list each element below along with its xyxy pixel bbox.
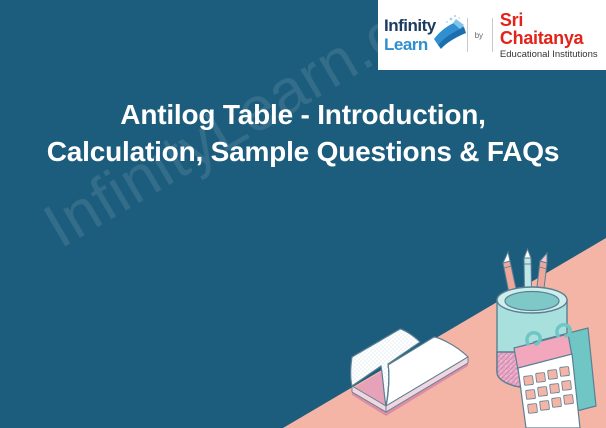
infinity-swoosh-icon (430, 13, 470, 53)
infinity-learn-word-infinity: Infinity (384, 17, 436, 34)
sri-chaitanya-subtitle: Educational Institutions (500, 50, 598, 60)
sri-chaitanya-logo: Sri Chaitanya Educational Institutions (500, 11, 600, 60)
banner-canvas: InfinityLearn.com (0, 0, 606, 428)
logo-divider-2 (492, 18, 493, 52)
page-title: Antilog Table - Introduction, Calculatio… (45, 96, 561, 170)
infinity-learn-logo: Infinity Learn (384, 11, 460, 59)
infinity-learn-word-learn: Learn (384, 36, 428, 53)
logo-connector-label: by (475, 31, 483, 40)
sri-chaitanya-name: Sri Chaitanya (500, 11, 600, 47)
brand-logo-card[interactable]: Infinity Learn by Sri Chaitanya Educatio… (378, 0, 606, 70)
